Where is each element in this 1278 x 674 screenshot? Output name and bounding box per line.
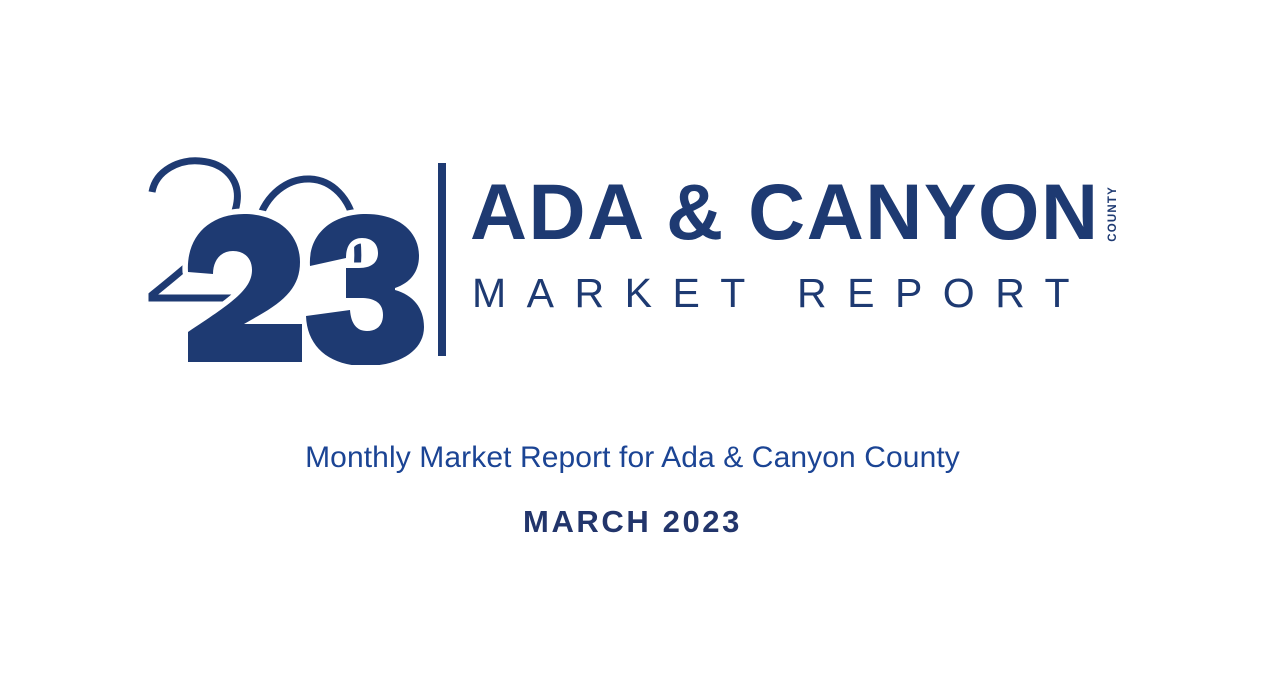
- cover-date: MARCH 2023: [0, 504, 1265, 540]
- wordmark-main-title: ADA & CANYON: [470, 180, 1100, 245]
- year-mark-2023: [140, 150, 430, 365]
- year-solid-23: [188, 214, 424, 365]
- report-wordmark: ADA & CANYON COUNTY MARKET REPORT: [470, 150, 1130, 365]
- wordmark-main-row: ADA & CANYON COUNTY: [470, 180, 1119, 245]
- report-cover-page: ADA & CANYON COUNTY MARKET REPORT Monthl…: [0, 0, 1278, 674]
- wordmark-subtitle: MARKET REPORT: [472, 270, 1090, 317]
- lockup-divider-rule: [438, 163, 446, 356]
- cover-subtitle: Monthly Market Report for Ada & Canyon C…: [0, 440, 1265, 476]
- wordmark-county-label: COUNTY: [1107, 186, 1119, 242]
- cover-caption-block: Monthly Market Report for Ada & Canyon C…: [0, 440, 1265, 540]
- report-logo-lockup: ADA & CANYON COUNTY MARKET REPORT: [140, 150, 1140, 365]
